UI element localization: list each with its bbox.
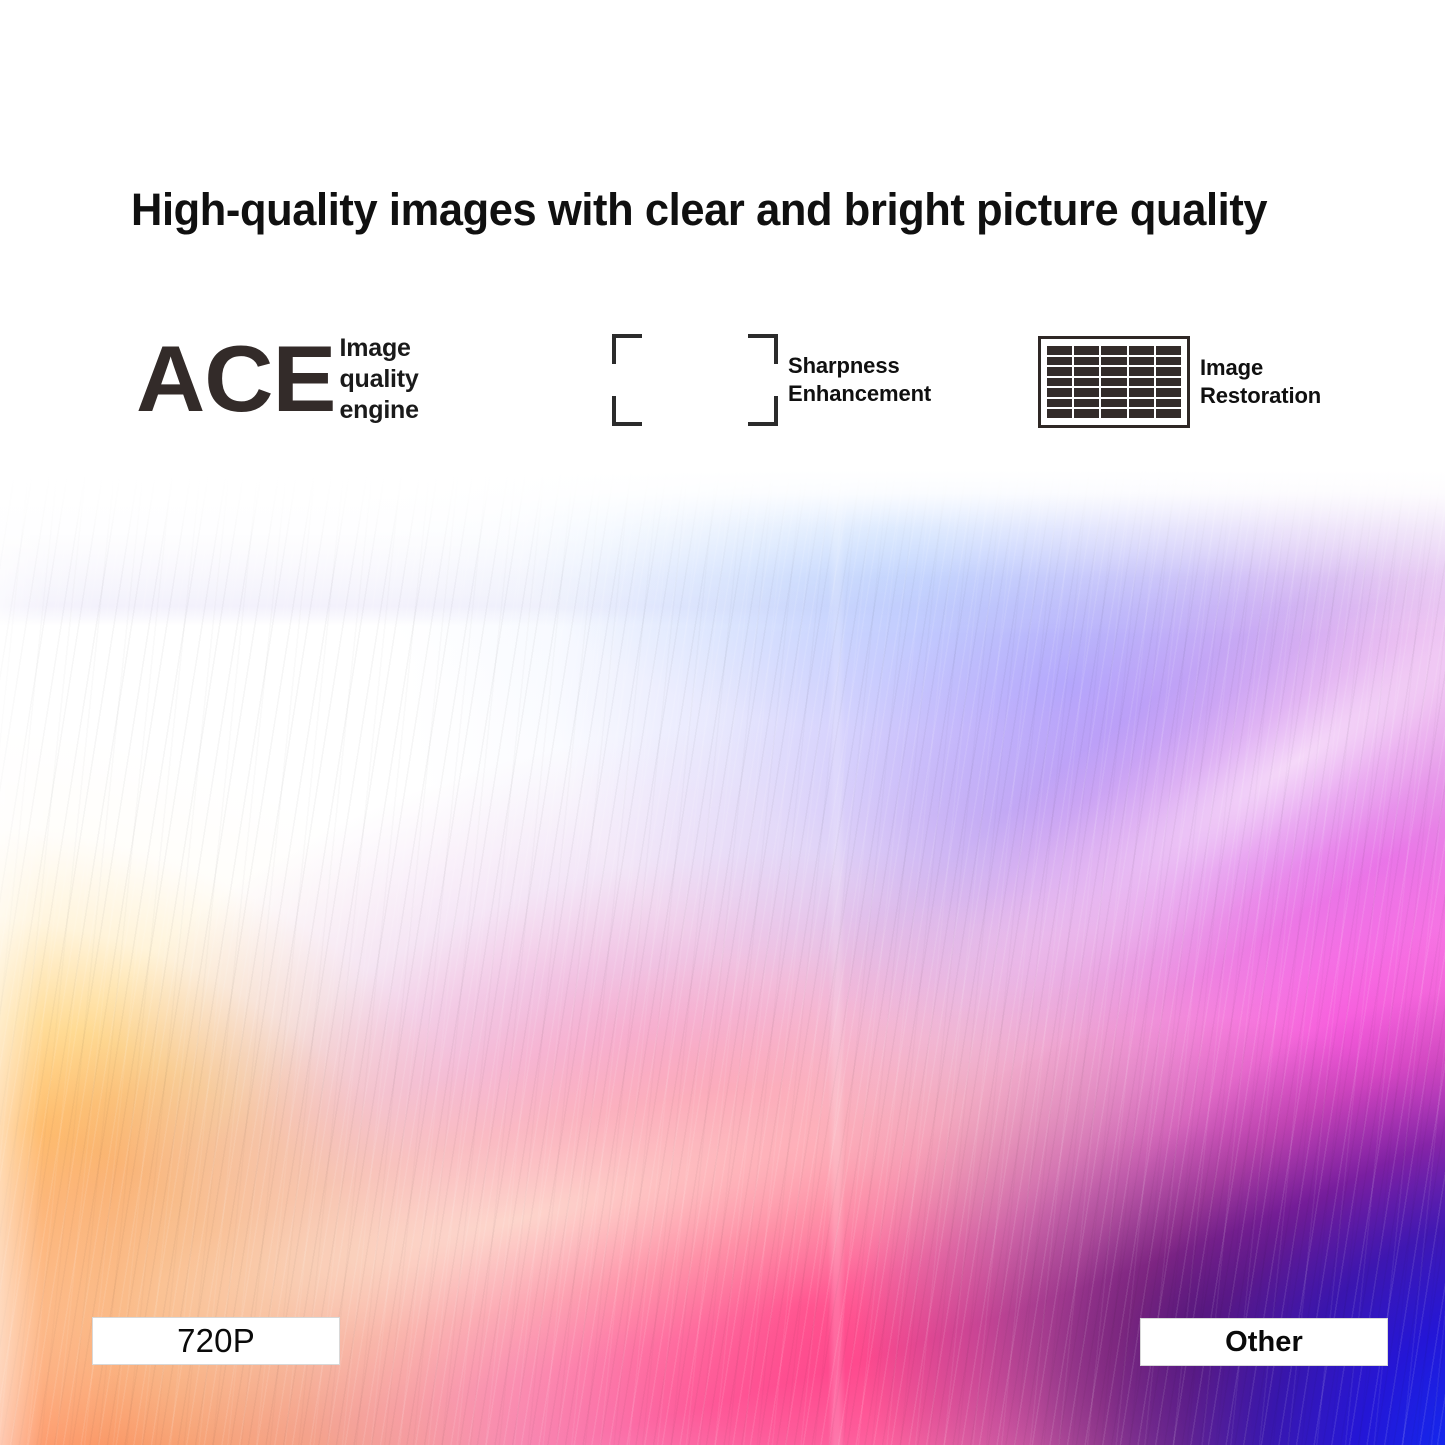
feature-strip: ACE Image quality engine Sharpness Enhan… <box>0 324 1445 454</box>
grid-cell <box>1101 346 1126 355</box>
image-restoration-label: Image Restoration <box>1200 354 1321 410</box>
crop-corner-top-left <box>612 334 642 364</box>
crop-corner-bottom-right <box>748 396 778 426</box>
ace-tagline-line-1: Image <box>339 333 418 364</box>
grid-cell <box>1101 409 1126 418</box>
brick-grid-icon <box>1038 336 1190 428</box>
ace-tagline: Image quality engine <box>339 333 418 426</box>
grid-cell <box>1129 378 1154 387</box>
grid-cell <box>1047 399 1072 408</box>
grid-cell <box>1156 367 1181 376</box>
grid-cell <box>1129 367 1154 376</box>
grid-cell <box>1156 346 1181 355</box>
grid-cell <box>1074 378 1099 387</box>
grid-cell <box>1047 378 1072 387</box>
brand-lockup: ACE Image quality engine <box>136 332 419 426</box>
comparison-label-left: 720P <box>92 1317 340 1365</box>
feature-image-restoration: Image Restoration <box>1038 336 1321 428</box>
ace-wordmark: ACE <box>136 332 335 426</box>
restoration-label-line-2: Restoration <box>1200 382 1321 410</box>
grid-cell <box>1074 367 1099 376</box>
crop-corner-bottom-left <box>612 396 642 426</box>
comparison-label-right: Other <box>1140 1318 1388 1366</box>
grid-cell <box>1101 357 1126 366</box>
grid-cell <box>1074 409 1099 418</box>
grid-cell <box>1156 399 1181 408</box>
gradient-layer-left-fade <box>0 470 1445 1445</box>
grid-cell <box>1074 357 1099 366</box>
grid-cell <box>1101 399 1126 408</box>
sharpness-label-line-1: Sharpness <box>788 352 931 380</box>
grid-cell <box>1047 388 1072 397</box>
grid-cell <box>1101 378 1126 387</box>
grid-cell <box>1047 357 1072 366</box>
grid-cell <box>1129 409 1154 418</box>
grid-cell <box>1101 367 1126 376</box>
grid-cell <box>1074 346 1099 355</box>
grid-cell <box>1129 346 1154 355</box>
grid-cell <box>1074 388 1099 397</box>
grid-cell <box>1156 388 1181 397</box>
comparison-artwork <box>0 470 1445 1445</box>
restoration-label-line-1: Image <box>1200 354 1321 382</box>
grid-cell <box>1047 367 1072 376</box>
grid-cell <box>1129 399 1154 408</box>
grid-cell <box>1156 357 1181 366</box>
crop-frame-icon <box>612 334 778 426</box>
sharpness-enhancement-label: Sharpness Enhancement <box>788 352 931 408</box>
grid-cell <box>1129 357 1154 366</box>
ace-tagline-line-3: engine <box>339 395 418 426</box>
ace-tagline-line-2: quality <box>339 364 418 395</box>
sharpness-label-line-2: Enhancement <box>788 380 931 408</box>
promo-page: High-quality images with clear and brigh… <box>0 0 1445 1445</box>
grid-cell <box>1156 378 1181 387</box>
grid-cell <box>1074 399 1099 408</box>
grid-cell <box>1047 346 1072 355</box>
crop-corner-top-right <box>748 334 778 364</box>
grid-cell <box>1156 409 1181 418</box>
page-title: High-quality images with clear and brigh… <box>131 182 1289 238</box>
feature-sharpness-enhancement: Sharpness Enhancement <box>612 334 931 426</box>
grid-cell <box>1047 409 1072 418</box>
grid-cell <box>1129 388 1154 397</box>
grid-cell <box>1101 388 1126 397</box>
